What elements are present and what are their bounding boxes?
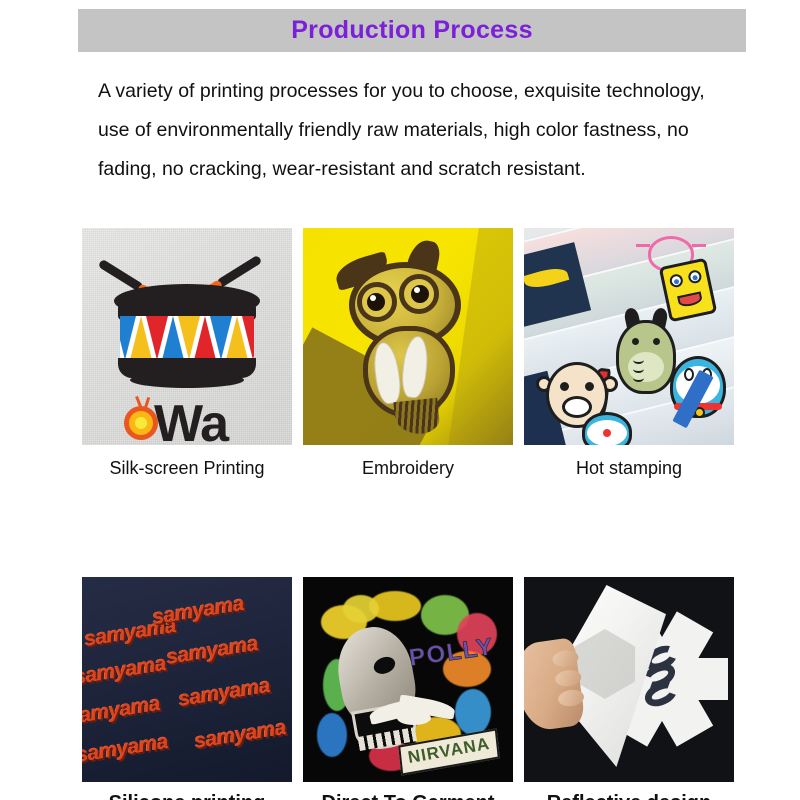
- paint-splatter-7: [317, 713, 347, 757]
- gallery-cell-hot-stamping[interactable]: Hot stamping: [524, 228, 734, 479]
- paint-splatter-10: [343, 595, 379, 623]
- gallery-cell-dtg[interactable]: POLLY NIRVANA Direct To Garment: [303, 577, 513, 800]
- gallery-cell-reflective[interactable]: Reflective design: [524, 577, 734, 800]
- process-gallery: Wa Silk-screen Printing: [82, 228, 734, 800]
- totoro-icon: [616, 320, 676, 394]
- hot-stamping-image[interactable]: [524, 228, 734, 445]
- caption-silk-screen: Silk-screen Printing: [82, 445, 292, 479]
- dove-graphic: [369, 697, 453, 731]
- silk-screen-image[interactable]: Wa: [82, 228, 292, 445]
- gallery-cell-embroidery[interactable]: Embroidery: [303, 228, 513, 479]
- silicone-word-3: samyama: [165, 632, 260, 670]
- caption-dtg: Direct To Garment: [303, 782, 513, 800]
- header-banner: Production Process: [78, 9, 746, 52]
- silicone-word-4: samyama: [82, 692, 162, 730]
- drum-graphic: [108, 284, 266, 392]
- gallery-row-2: samyamasamyamasamyamasamyamasamyamasamya…: [82, 577, 734, 800]
- silicone-printing-image[interactable]: samyamasamyamasamyamasamyamasamyamasamya…: [82, 577, 292, 782]
- caption-silicone: Silicone printing: [82, 782, 292, 800]
- owl-embroidery-graphic: [333, 242, 483, 432]
- embroidery-image[interactable]: [303, 228, 513, 445]
- doraemon-secondary-icon: [582, 412, 632, 445]
- silicone-word-1: samyama: [151, 592, 246, 630]
- silicone-word-2: samyama: [82, 652, 168, 690]
- production-process-page: Production Process A variety of printing…: [0, 0, 800, 800]
- dtg-artwork: POLLY NIRVANA: [317, 589, 499, 769]
- silicone-word-7: samyama: [193, 716, 288, 754]
- caption-reflective: Reflective design: [524, 782, 734, 800]
- caption-hot-stamping: Hot stamping: [524, 445, 734, 479]
- wa-wordmark: Wa: [154, 394, 228, 445]
- caption-embroidery: Embroidery: [303, 445, 513, 479]
- gallery-row-1: Wa Silk-screen Printing: [82, 228, 734, 479]
- page-title: Production Process: [291, 16, 533, 45]
- gallery-cell-silk-screen[interactable]: Wa Silk-screen Printing: [82, 228, 292, 479]
- reflective-design-image[interactable]: [524, 577, 734, 782]
- gallery-cell-silicone[interactable]: samyamasamyamasamyamasamyamasamyamasamya…: [82, 577, 292, 800]
- intro-paragraph: A variety of printing processes for you …: [98, 72, 738, 189]
- paint-splatter-5: [455, 689, 491, 735]
- silicone-word-5: samyama: [177, 674, 272, 712]
- silicone-word-6: samyama: [82, 730, 170, 768]
- dtg-image[interactable]: POLLY NIRVANA: [303, 577, 513, 782]
- wa-logo-icon: [124, 406, 158, 440]
